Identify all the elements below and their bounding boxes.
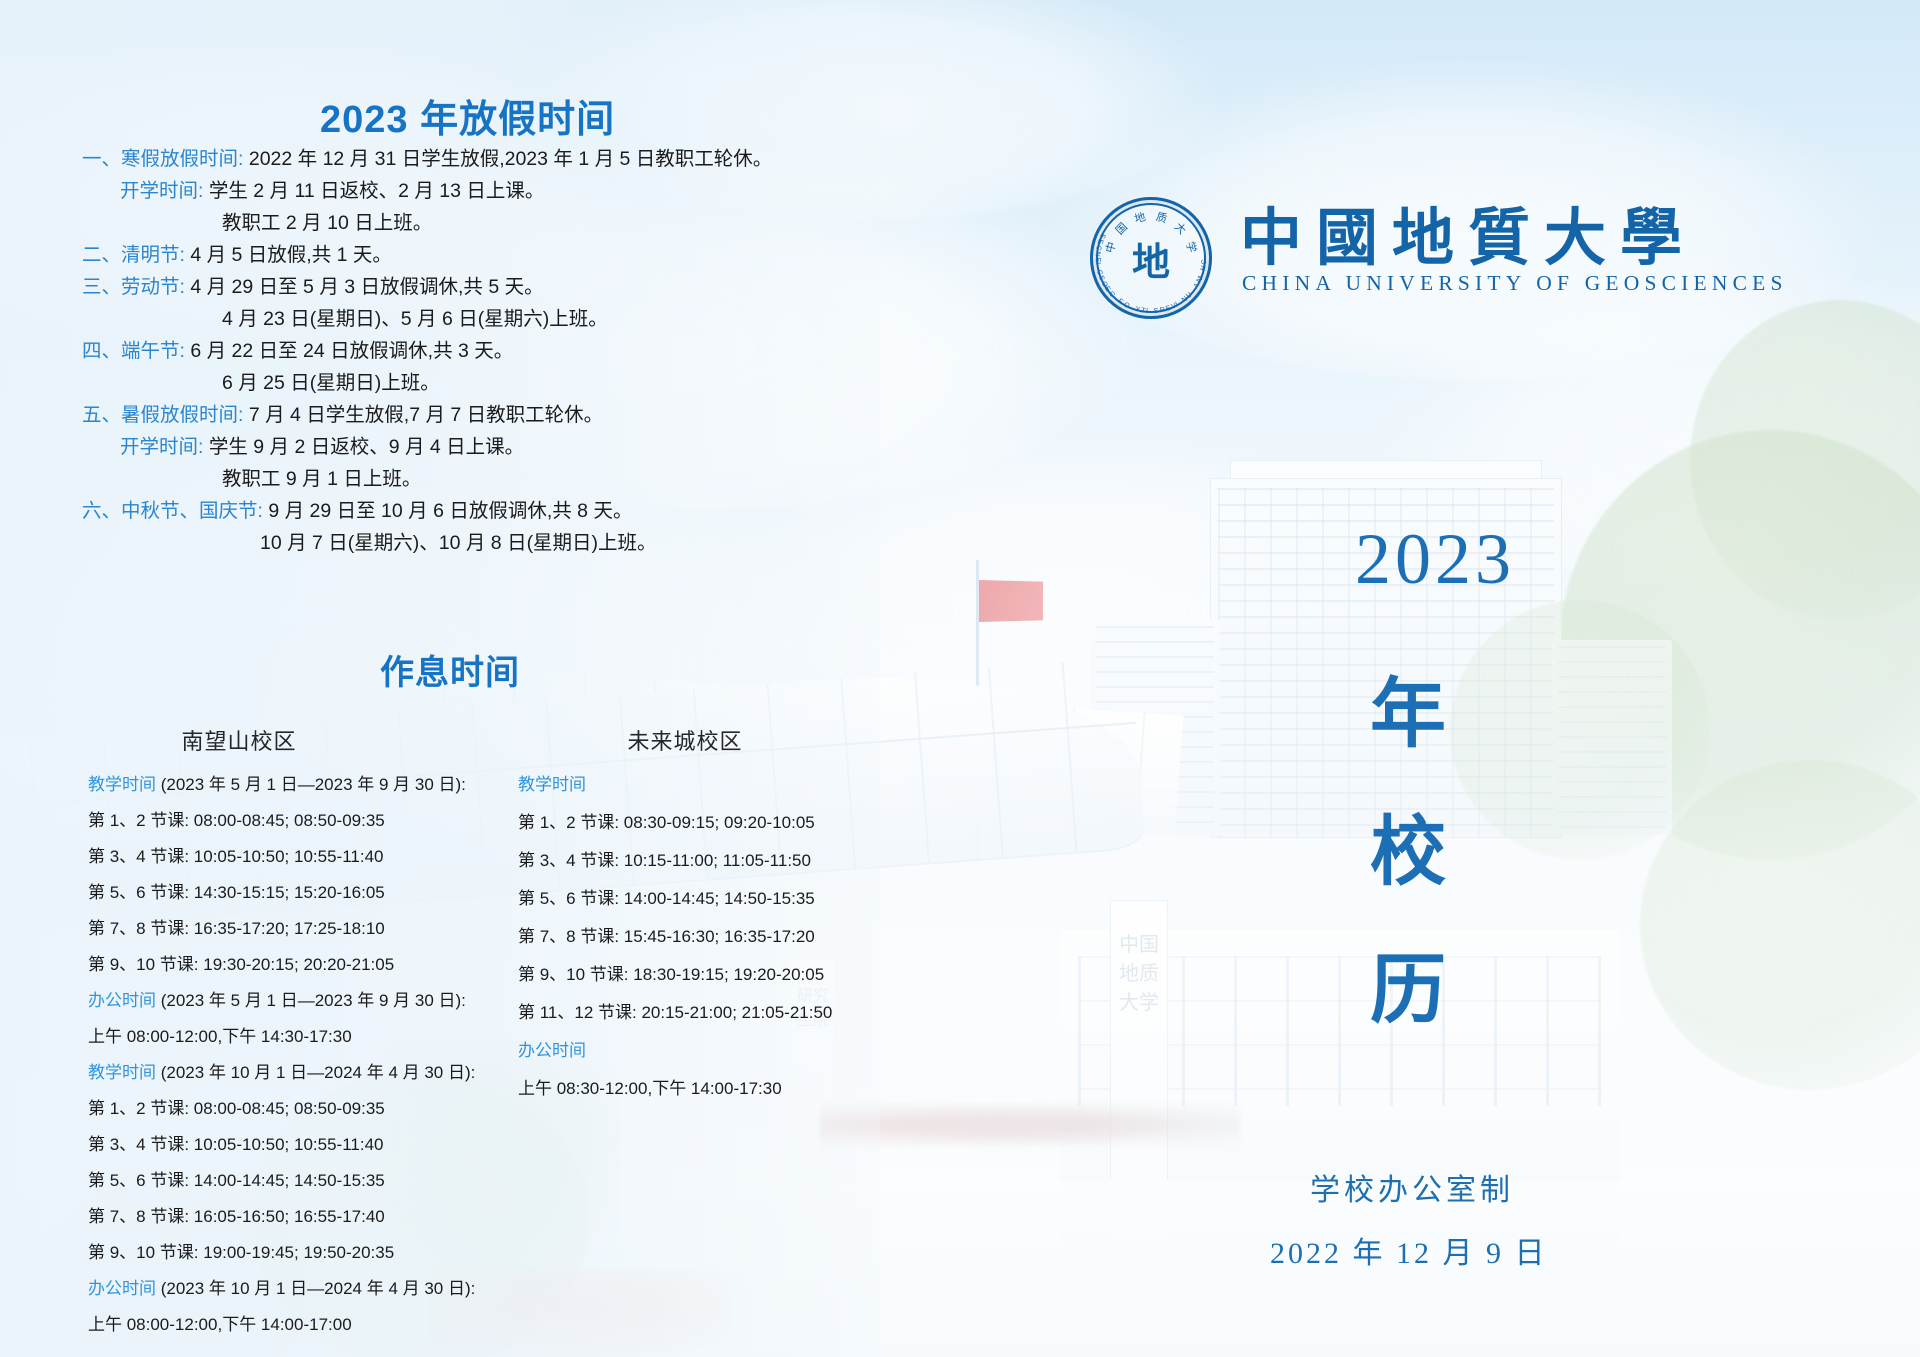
schedule-line-text: (2023 年 5 月 1 日—2023 年 9 月 30 日): <box>156 991 466 1010</box>
holiday-item: 10 月 7 日(星期六)、10 月 8 日(星期日)上班。 <box>82 534 842 554</box>
schedule-line: 办公时间 <box>518 1042 898 1059</box>
schedule-line-label: 办公时间 <box>88 1279 156 1298</box>
schedule-line: 第 7、8 节课: 16:05-16:50; 16:55-17:40 <box>88 1208 468 1225</box>
schedule-line-text: 上午 08:00-12:00,下午 14:00-17:00 <box>88 1315 352 1334</box>
holiday-item-number: 六、 <box>82 500 121 522</box>
schedule-line-text: 第 5、6 节课: 14:00-14:45; 14:50-15:35 <box>88 1171 385 1190</box>
holiday-item-text: 4 月 5 日放假,共 1 天。 <box>185 244 392 266</box>
schedule-line: 第 9、10 节课: 18:30-19:15; 19:20-20:05 <box>518 966 898 983</box>
holiday-item-number: 四、 <box>82 340 121 362</box>
holiday-item-number: 一、 <box>82 148 121 170</box>
schedule-line: 第 5、6 节课: 14:30-15:15; 15:20-16:05 <box>88 884 468 901</box>
holiday-item-text: 6 月 25 日(星期日)上班。 <box>222 372 440 394</box>
schedule-line: 教学时间 <box>518 776 898 793</box>
holiday-item: 六、中秋节、国庆节: 9 月 29 日至 10 月 6 日放假调休,共 8 天。 <box>82 502 842 522</box>
holiday-item-text: 教职工 9 月 1 日上班。 <box>222 468 421 490</box>
schedule-line: 第 9、10 节课: 19:00-19:45; 19:50-20:35 <box>88 1244 468 1261</box>
schedule-line-text: 第 9、10 节课: 19:00-19:45; 19:50-20:35 <box>88 1243 394 1262</box>
schedule-line-text: 第 1、2 节课: 08:30-09:15; 09:20-10:05 <box>518 813 815 832</box>
issuer-label: 学校办公室制 <box>1310 1165 1514 1209</box>
holiday-list: 一、寒假放假时间: 2022 年 12 月 31 日学生放假,2023 年 1 … <box>82 150 842 566</box>
schedule-line-text: 第 1、2 节课: 08:00-08:45; 08:50-09:35 <box>88 811 385 830</box>
schedule-line: 第 3、4 节课: 10:15-11:00; 11:05-11:50 <box>518 852 898 869</box>
worktime-section-title: 作息时间 <box>380 645 520 694</box>
schedule-line: 第 5、6 节课: 14:00-14:45; 14:50-15:35 <box>88 1172 468 1189</box>
schedule-line-text: 第 7、8 节课: 16:05-16:50; 16:55-17:40 <box>88 1207 385 1226</box>
holiday-item: 一、寒假放假时间: 2022 年 12 月 31 日学生放假,2023 年 1 … <box>82 150 842 170</box>
campus-name-future: 未来城校区 <box>518 724 898 756</box>
schedule-line-text: (2023 年 5 月 1 日—2023 年 9 月 30 日): <box>156 775 466 794</box>
holiday-item: 6 月 25 日(星期日)上班。 <box>82 374 842 394</box>
schedule-line-text: 第 3、4 节课: 10:05-10:50; 10:55-11:40 <box>88 847 383 866</box>
schedule-line-label: 教学时间 <box>88 775 156 794</box>
schedule-line-text: 上午 08:00-12:00,下午 14:30-17:30 <box>88 1027 352 1046</box>
holiday-item-text: 7 月 4 日学生放假,7 月 7 日教职工轮休。 <box>243 404 603 426</box>
holiday-item-label: 劳动节: <box>121 276 185 298</box>
holiday-item: 4 月 23 日(星期日)、5 月 6 日(星期六)上班。 <box>82 310 842 330</box>
schedule-line-text: 第 5、6 节课: 14:30-15:15; 15:20-16:05 <box>88 883 385 902</box>
schedule-line-text: 第 7、8 节课: 15:45-16:30; 16:35-17:20 <box>518 927 815 946</box>
schedule-line-text: 第 3、4 节课: 10:15-11:00; 11:05-11:50 <box>518 851 811 870</box>
calendar-poster: 中国地质大学 研究生院 地 中国地质大学CHINA UNIVERSITY OF … <box>0 0 1920 1357</box>
holiday-item-text: 4 月 29 日至 5 月 3 日放假调休,共 5 天。 <box>185 276 544 298</box>
holiday-item: 三、劳动节: 4 月 29 日至 5 月 3 日放假调休,共 5 天。 <box>82 278 842 298</box>
poster-content: 地 中国地质大学CHINA UNIVERSITY OF GEOSCIENCES … <box>0 0 1920 1357</box>
cover-vertical-char-calendar: 历 <box>1370 928 1446 1038</box>
holiday-item-label: 清明节: <box>121 244 185 266</box>
schedule-line: 第 1、2 节课: 08:00-08:45; 08:50-09:35 <box>88 1100 468 1117</box>
university-wordmark-en: CHINA UNIVERSITY OF GEOSCIENCES <box>1242 271 1788 296</box>
schedule-line: 办公时间 (2023 年 5 月 1 日—2023 年 9 月 30 日): <box>88 992 468 1009</box>
holiday-item-text: 教职工 2 月 10 日上班。 <box>222 212 432 234</box>
holiday-item-text: 4 月 23 日(星期日)、5 月 6 日(星期六)上班。 <box>222 308 608 330</box>
schedule-line-text: 第 9、10 节课: 18:30-19:15; 19:20-20:05 <box>518 965 824 984</box>
holiday-item-number: 二、 <box>82 244 121 266</box>
schedule-line: 上午 08:00-12:00,下午 14:00-17:00 <box>88 1316 468 1333</box>
schedule-line: 第 1、2 节课: 08:30-09:15; 09:20-10:05 <box>518 814 898 831</box>
schedule-line: 第 7、8 节课: 15:45-16:30; 16:35-17:20 <box>518 928 898 945</box>
holiday-item-text: 10 月 7 日(星期六)、10 月 8 日(星期日)上班。 <box>260 532 657 554</box>
holiday-item: 五、暑假放假时间: 7 月 4 日学生放假,7 月 7 日教职工轮休。 <box>82 406 842 426</box>
schedule-line-label: 办公时间 <box>88 991 156 1010</box>
holiday-item-label: 暑假放假时间: <box>121 404 243 426</box>
university-seal-icon: 地 中国地质大学CHINA UNIVERSITY OF GEOSCIENCES <box>1090 197 1212 319</box>
holiday-item-label: 端午节: <box>121 340 185 362</box>
campus-schedule-future: 未来城校区 教学时间第 1、2 节课: 08:30-09:15; 09:20-1… <box>518 724 898 1118</box>
schedule-line-label: 办公时间 <box>518 1041 586 1060</box>
campus-name-south: 南望山校区 <box>88 724 468 756</box>
schedule-line: 第 7、8 节课: 16:35-17:20; 17:25-18:10 <box>88 920 468 937</box>
campus-schedule-lines-future: 教学时间第 1、2 节课: 08:30-09:15; 09:20-10:05第 … <box>518 776 898 1097</box>
university-wordmark-cn: 中國地質大學 <box>1240 187 1696 277</box>
schedule-line-text: 第 1、2 节课: 08:00-08:45; 08:50-09:35 <box>88 1099 385 1118</box>
schedule-line-text: (2023 年 10 月 1 日—2024 年 4 月 30 日): <box>156 1279 475 1298</box>
holiday-item-label: 开学时间: <box>120 180 203 202</box>
holiday-item-text: 2022 年 12 月 31 日学生放假,2023 年 1 月 5 日教职工轮休… <box>243 148 772 170</box>
holiday-item-text: 6 月 22 日至 24 日放假调休,共 3 天。 <box>185 340 513 362</box>
schedule-line: 教学时间 (2023 年 5 月 1 日—2023 年 9 月 30 日): <box>88 776 468 793</box>
holiday-item-label: 开学时间: <box>120 436 203 458</box>
issue-date: 2022 年 12 月 9 日 <box>1270 1228 1548 1272</box>
holiday-item-number: 五、 <box>82 404 121 426</box>
holiday-item: 开学时间: 学生 9 月 2 日返校、9 月 4 日上课。 <box>82 438 842 458</box>
cover-vertical-char-year: 年 <box>1370 652 1446 762</box>
schedule-line-label: 教学时间 <box>88 1063 156 1082</box>
schedule-line: 第 3、4 节课: 10:05-10:50; 10:55-11:40 <box>88 848 468 865</box>
holiday-item-text: 9 月 29 日至 10 月 6 日放假调休,共 8 天。 <box>263 500 633 522</box>
holiday-section-title: 2023 年放假时间 <box>320 88 615 143</box>
schedule-line-label: 教学时间 <box>518 775 586 794</box>
schedule-line: 第 9、10 节课: 19:30-20:15; 20:20-21:05 <box>88 956 468 973</box>
campus-schedule-lines-south: 教学时间 (2023 年 5 月 1 日—2023 年 9 月 30 日):第 … <box>88 776 468 1333</box>
schedule-line: 第 3、4 节课: 10:05-10:50; 10:55-11:40 <box>88 1136 468 1153</box>
cover-vertical-char-school: 校 <box>1370 790 1446 900</box>
campus-schedule-south: 南望山校区 教学时间 (2023 年 5 月 1 日—2023 年 9 月 30… <box>88 724 468 1352</box>
schedule-line-text: 第 7、8 节课: 16:35-17:20; 17:25-18:10 <box>88 919 385 938</box>
schedule-line: 上午 08:30-12:00,下午 14:00-17:30 <box>518 1080 898 1097</box>
holiday-item: 四、端午节: 6 月 22 日至 24 日放假调休,共 3 天。 <box>82 342 842 362</box>
cover-year: 2023 <box>1355 518 1515 601</box>
holiday-item: 教职工 2 月 10 日上班。 <box>82 214 842 234</box>
holiday-item-text: 学生 9 月 2 日返校、9 月 4 日上课。 <box>203 436 524 458</box>
schedule-line: 第 11、12 节课: 20:15-21:00; 21:05-21:50 <box>518 1004 898 1021</box>
schedule-line-text: (2023 年 10 月 1 日—2024 年 4 月 30 日): <box>156 1063 475 1082</box>
schedule-line-text: 上午 08:30-12:00,下午 14:00-17:30 <box>518 1079 782 1098</box>
holiday-item-label: 寒假放假时间: <box>121 148 243 170</box>
schedule-line: 第 5、6 节课: 14:00-14:45; 14:50-15:35 <box>518 890 898 907</box>
schedule-line: 办公时间 (2023 年 10 月 1 日—2024 年 4 月 30 日): <box>88 1280 468 1297</box>
holiday-item-label: 中秋节、国庆节: <box>121 500 263 522</box>
holiday-item-text: 学生 2 月 11 日返校、2 月 13 日上课。 <box>203 180 544 202</box>
schedule-line: 教学时间 (2023 年 10 月 1 日—2024 年 4 月 30 日): <box>88 1064 468 1081</box>
holiday-item: 开学时间: 学生 2 月 11 日返校、2 月 13 日上课。 <box>82 182 842 202</box>
holiday-item: 教职工 9 月 1 日上班。 <box>82 470 842 490</box>
schedule-line: 上午 08:00-12:00,下午 14:30-17:30 <box>88 1028 468 1045</box>
schedule-line-text: 第 9、10 节课: 19:30-20:15; 20:20-21:05 <box>88 955 394 974</box>
schedule-line-text: 第 3、4 节课: 10:05-10:50; 10:55-11:40 <box>88 1135 383 1154</box>
holiday-item: 二、清明节: 4 月 5 日放假,共 1 天。 <box>82 246 842 266</box>
schedule-line: 第 1、2 节课: 08:00-08:45; 08:50-09:35 <box>88 812 468 829</box>
schedule-line-text: 第 5、6 节课: 14:00-14:45; 14:50-15:35 <box>518 889 815 908</box>
holiday-item-number: 三、 <box>82 276 121 298</box>
university-logo-lockup: 地 中国地质大学CHINA UNIVERSITY OF GEOSCIENCES … <box>1090 205 1750 325</box>
schedule-line-text: 第 11、12 节课: 20:15-21:00; 21:05-21:50 <box>518 1003 832 1022</box>
seal-ring-text: 中国地质大学CHINA UNIVERSITY OF GEOSCIENCES <box>1096 203 1206 313</box>
